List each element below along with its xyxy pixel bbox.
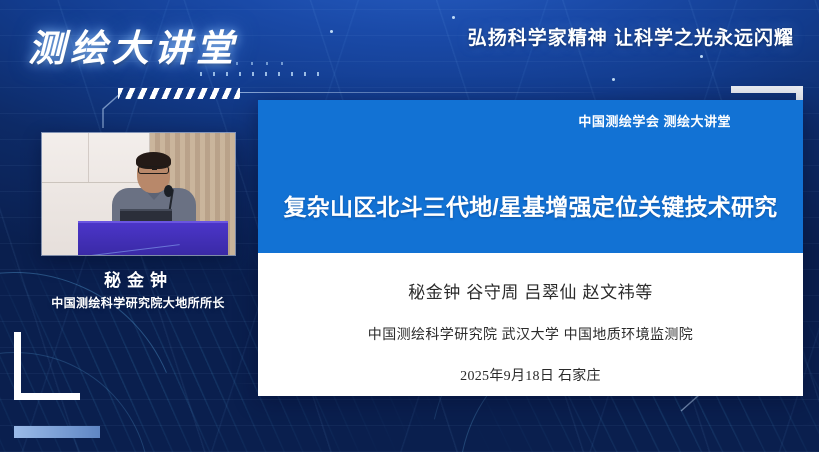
video-wall-seam — [42, 182, 150, 183]
elbow-line-top-left — [96, 92, 122, 128]
sparkle-dot — [330, 30, 333, 33]
sparkle-dot — [700, 55, 703, 58]
speaker-title: 中国测绘科学研究院大地所所长 — [28, 294, 248, 311]
slide-panel[interactable]: 中国测绘学会 测绘大讲堂 复杂山区北斗三代地/星基增强定位关键技术研究 秘金钟 … — [258, 100, 803, 396]
accent-bar-bottom-left — [14, 426, 100, 438]
slide-body: 秘金钟 谷守周 吕翠仙 赵文祎等 中国测绘科学研究院 武汉大学 中国地质环境监测… — [258, 253, 803, 396]
program-logo: 测绘大讲堂 — [28, 18, 238, 72]
video-wall-seam — [88, 133, 89, 182]
slide-date-location: 2025年9月18日 石家庄 — [258, 365, 803, 385]
decorative-dot-row — [200, 72, 320, 76]
slide-organization: 中国测绘学会 测绘大讲堂 — [578, 111, 731, 130]
slide-header-band: 中国测绘学会 测绘大讲堂 复杂山区北斗三代地/星基增强定位关键技术研究 — [258, 100, 803, 253]
accent-line-top-left — [240, 92, 610, 93]
slide-institutions: 中国测绘科学研究院 武汉大学 中国地质环境监测院 — [258, 324, 803, 344]
hatch-decoration-top-left — [118, 88, 240, 99]
sparkle-dot — [612, 78, 615, 81]
slide-title: 复杂山区北斗三代地/星基增强定位关键技术研究 — [258, 188, 803, 222]
speaker-name: 秘金钟 — [42, 266, 235, 291]
presentation-stage: 测绘大讲堂 弘扬科学家精神 让科学之光永远闪耀 秘金钟 中国测绘科学研究院大地所… — [0, 0, 819, 452]
slide-authors: 秘金钟 谷守周 吕翠仙 赵文祎等 — [258, 278, 803, 303]
sparkle-dot — [452, 16, 455, 19]
podium — [78, 223, 228, 255]
decorative-dot-row-secondary — [236, 62, 296, 65]
corner-bracket-bottom-left — [14, 332, 80, 400]
speaker-video-feed[interactable] — [42, 133, 235, 255]
speaker-glasses — [138, 166, 169, 174]
microphone-head — [164, 185, 173, 197]
header-slogan: 弘扬科学家精神 让科学之光永远闪耀 — [468, 23, 794, 50]
